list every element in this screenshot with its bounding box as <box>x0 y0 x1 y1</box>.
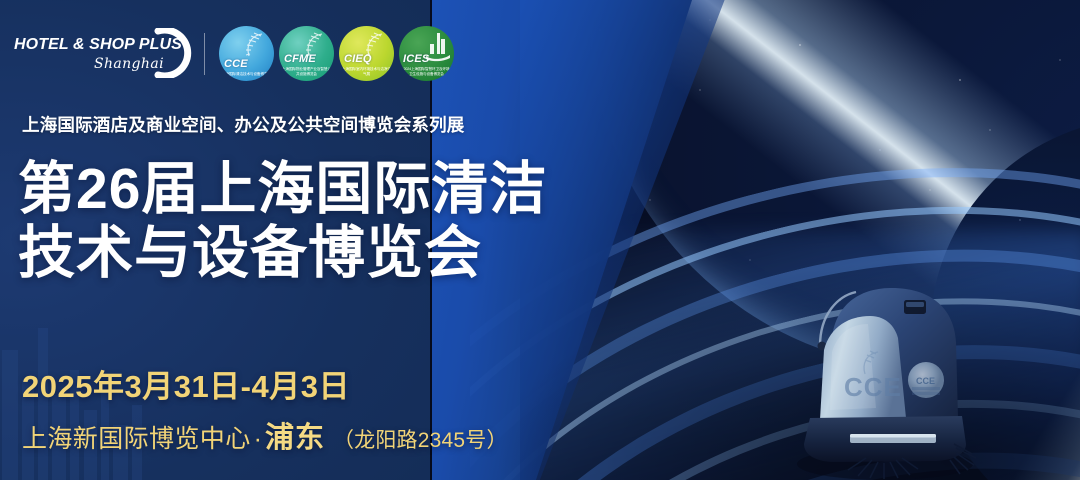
venue-separator: · <box>254 425 262 454</box>
event-venue: 上海新国际博览中心 · 浦东 （龙阳路2345号） <box>22 414 508 456</box>
badge-abbr-cce: CCE <box>224 59 248 70</box>
headline-line-1: 第26届上海国际清洁 <box>18 158 547 222</box>
badge-ices[interactable]: ICES 2024上海国际智慧环卫及环境卫生设施与设备博览会 <box>399 26 454 81</box>
badge-sub-cfme: 上海国际物业管理产业及智慧公共设施博览会 <box>279 67 334 77</box>
badge-cieq[interactable]: CIEQ 上海国际室内环境技术与洁净空气展 <box>339 26 394 81</box>
vertical-divider-icon <box>204 33 205 75</box>
badge-sub-ices: 2024上海国际智慧环卫及环境卫生设施与设备博览会 <box>399 67 454 77</box>
cleaning-robot-image: CCE CCE <box>786 268 984 480</box>
exhibition-banner: HOTEL & SHOP PLUS Shanghai CCE 上海国际清洁技术与… <box>0 0 1080 480</box>
venue-address: （龙阳路2345号） <box>333 424 508 454</box>
page-title: 第26届上海国际清洁 技术与设备博览会 <box>18 158 547 286</box>
building-icon <box>425 32 451 62</box>
badge-cfme[interactable]: CFME 上海国际物业管理产业及智慧公共设施博览会 <box>279 26 334 81</box>
hotel-shop-plus-logo[interactable]: HOTEL & SHOP PLUS Shanghai <box>14 37 188 71</box>
headline-line-2: 技术与设备博览会 <box>18 222 547 286</box>
leaf-icon <box>300 30 330 60</box>
logo-bar: HOTEL & SHOP PLUS Shanghai CCE 上海国际清洁技术与… <box>14 26 454 81</box>
swoosh-arc-icon <box>150 28 194 78</box>
series-subtitle: 上海国际酒店及商业空间、办公及公共空间博览会系列展 <box>22 112 465 137</box>
badge-cce[interactable]: CCE 上海国际清洁技术与设备博览会 <box>219 26 274 81</box>
venue-district: 浦东 <box>265 414 325 456</box>
badge-sub-cce: 上海国际清洁技术与设备博览会 <box>219 72 274 77</box>
leaf-icon <box>360 30 390 60</box>
svg-text:CCE: CCE <box>916 376 935 386</box>
event-date: 2025年3月31日-4月3日 <box>22 361 350 406</box>
badge-sub-cieq: 上海国际室内环境技术与洁净空气展 <box>339 67 394 77</box>
svg-text:CCE: CCE <box>844 372 902 402</box>
venue-name: 上海新国际博览中心 <box>22 419 251 455</box>
leaf-icon <box>240 30 270 60</box>
badge-group: CCE 上海国际清洁技术与设备博览会 CFME 上海国际物业管理产业及智慧公共设… <box>219 26 454 81</box>
